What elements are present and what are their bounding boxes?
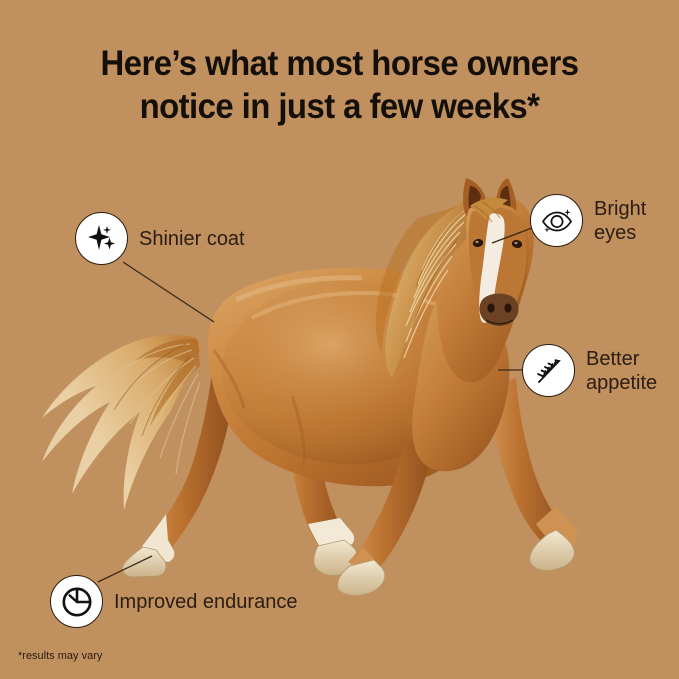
wheat-stalk-icon: [522, 344, 575, 397]
eye-sparkle-icon: [530, 194, 583, 247]
callout-bright-eyes[interactable]: Bright eyes: [530, 194, 646, 247]
horse-tail: [42, 334, 200, 510]
footnote-disclaimer: *results may vary: [18, 649, 102, 663]
callout-label-shinier-coat: Shinier coat: [139, 227, 245, 251]
stopwatch-icon: [50, 575, 103, 628]
callout-label-bright-eyes: Bright eyes: [594, 197, 646, 245]
callout-better-appetite[interactable]: Better appetite: [522, 344, 657, 397]
poster-canvas: Here’s what most horse owners notice in …: [0, 0, 679, 679]
callout-improved-endurance[interactable]: Improved endurance: [50, 575, 297, 628]
callout-label-improved-endurance: Improved endurance: [114, 590, 297, 614]
sparkle-icon: [75, 212, 128, 265]
callout-label-better-appetite: Better appetite: [586, 347, 657, 395]
callout-shinier-coat[interactable]: Shinier coat: [75, 212, 245, 265]
